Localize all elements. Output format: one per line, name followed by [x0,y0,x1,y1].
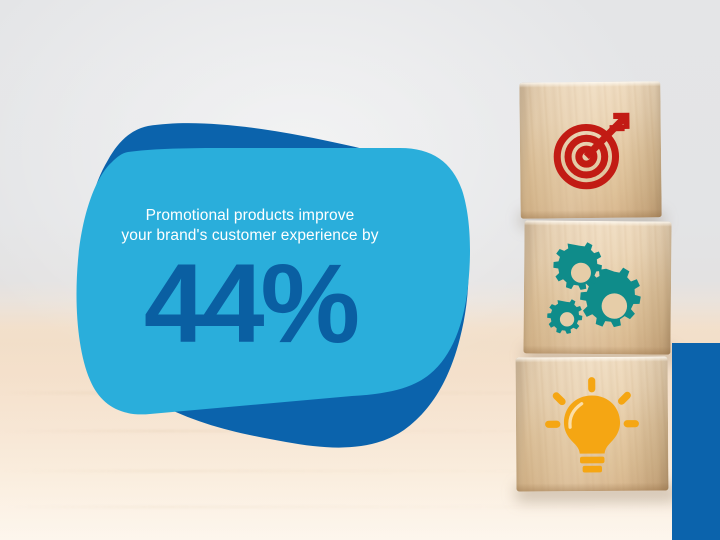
blue-card-graphic [0,0,720,540]
blob-front-light-blue [77,148,471,414]
infographic-canvas: Promotional products improve your brand'… [0,0,720,540]
